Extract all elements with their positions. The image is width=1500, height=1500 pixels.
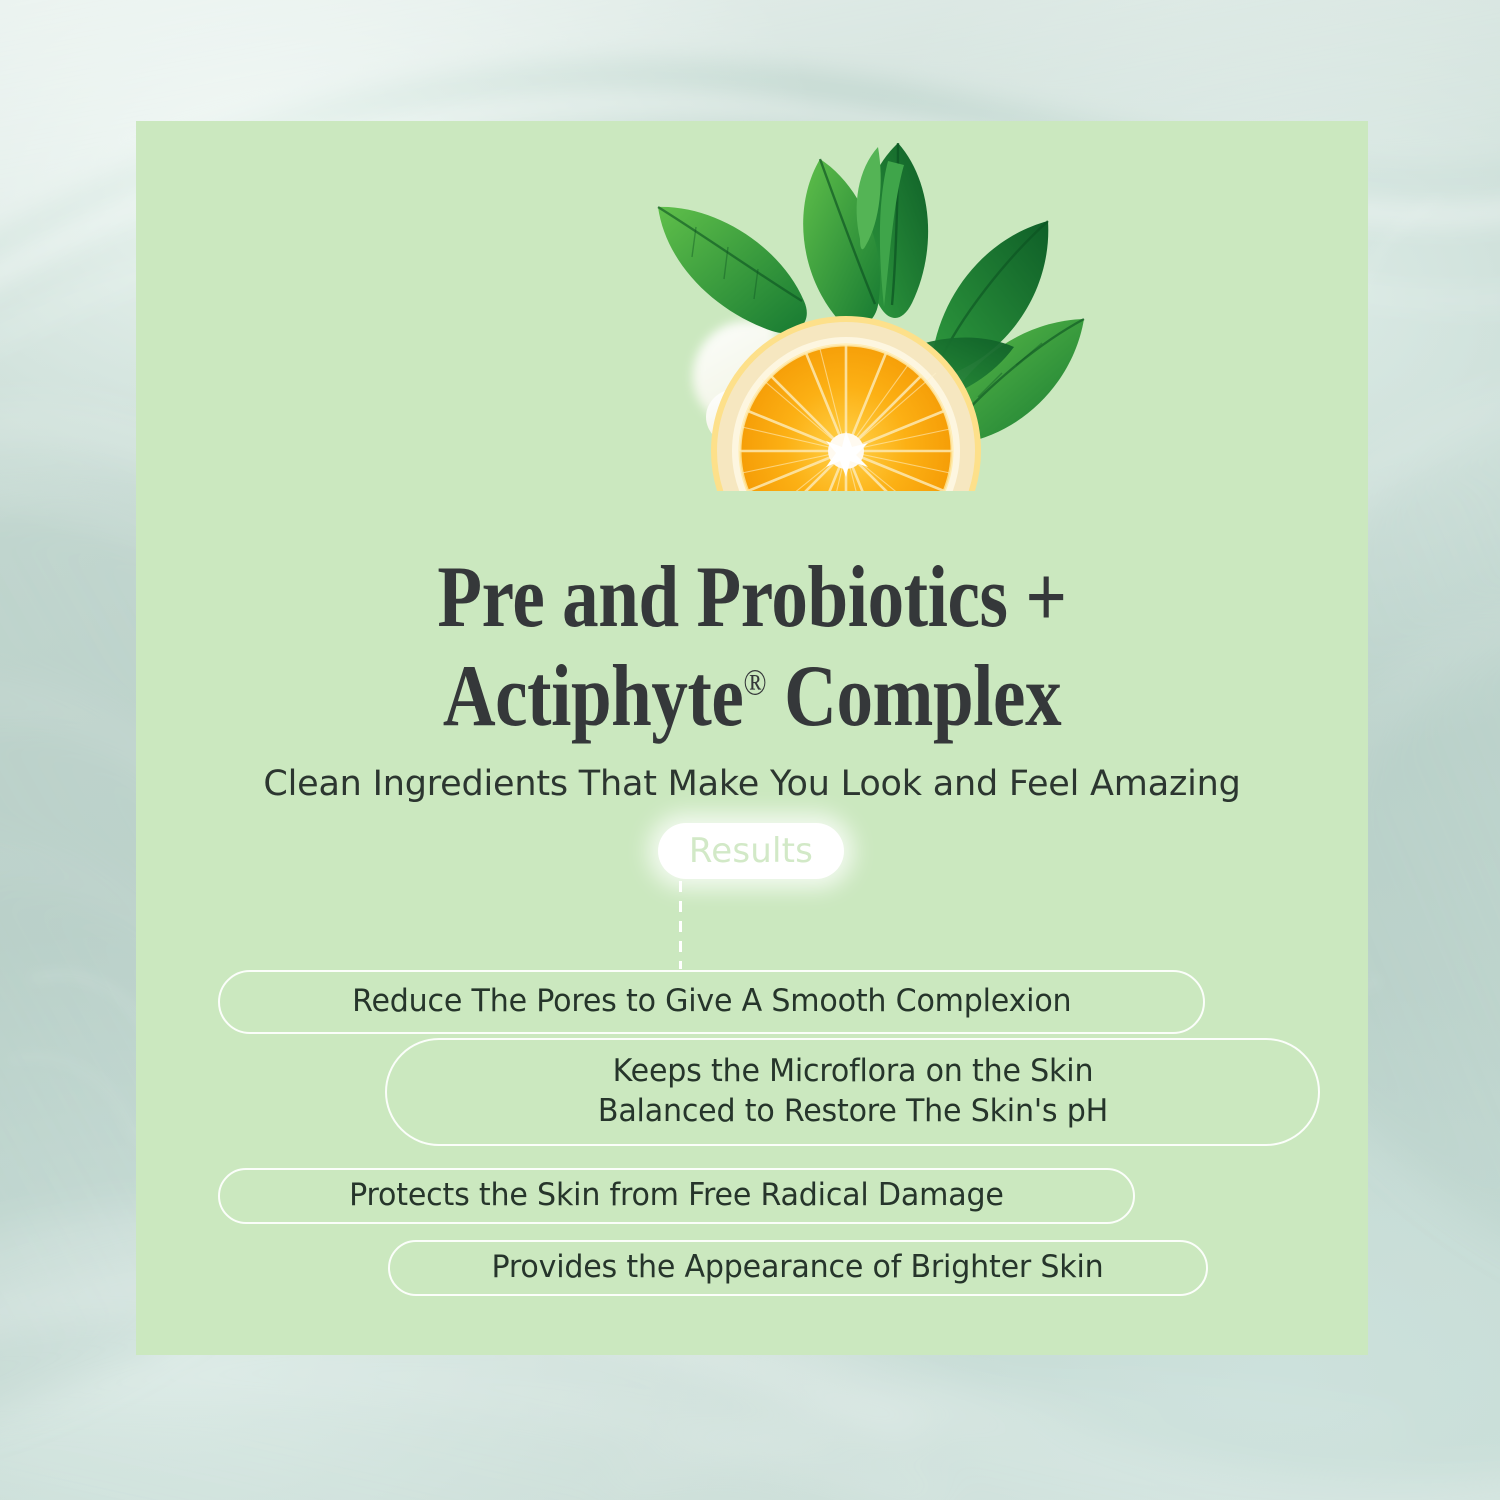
headline-brand: Actiphyte — [443, 648, 744, 745]
hero-image — [136, 121, 1368, 491]
result-item-label: Provides the Appearance of Brighter Skin — [492, 1248, 1104, 1288]
results-badge-label: Results — [689, 831, 813, 871]
result-item-label: Reduce The Pores to Give A Smooth Comple… — [352, 982, 1071, 1022]
result-item: Reduce The Pores to Give A Smooth Comple… — [218, 970, 1205, 1034]
result-item-label: Protects the Skin from Free Radical Dama… — [349, 1176, 1004, 1216]
results-badge: Results — [658, 823, 844, 879]
result-item: Provides the Appearance of Brighter Skin — [388, 1240, 1208, 1296]
product-infographic-page: Pre and Probiotics + Actiphyte® Complex … — [0, 0, 1500, 1500]
dashed-connector — [679, 881, 682, 969]
result-item: Keeps the Microflora on the Skin Balance… — [385, 1038, 1320, 1146]
content-card: Pre and Probiotics + Actiphyte® Complex … — [136, 121, 1368, 1355]
headline-line-2: Actiphyte® Complex — [241, 648, 1264, 747]
subtitle: Clean Ingredients That Make You Look and… — [136, 764, 1368, 804]
headline-line-1: Pre and Probiotics + — [241, 549, 1264, 648]
result-item-label: Keeps the Microflora on the Skin Balance… — [597, 1052, 1107, 1131]
headline: Pre and Probiotics + Actiphyte® Complex — [241, 549, 1264, 746]
result-item: Protects the Skin from Free Radical Dama… — [218, 1168, 1135, 1224]
headline-line-2-suffix: Complex — [766, 648, 1061, 745]
registered-mark-icon: ® — [743, 661, 766, 702]
